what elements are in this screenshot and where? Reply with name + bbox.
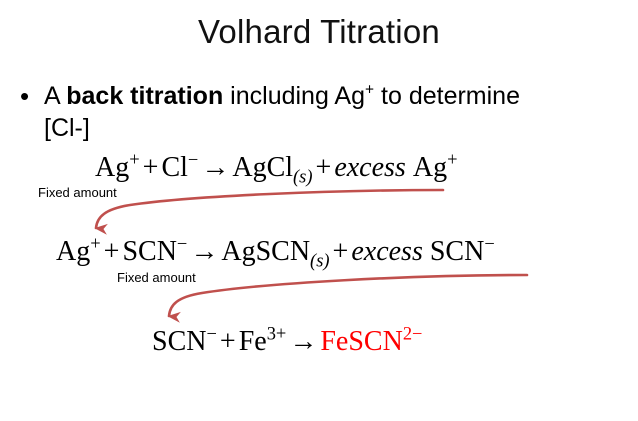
eq2-product-1: AgSCN xyxy=(221,236,310,267)
page-title: Volhard Titration xyxy=(0,14,638,50)
eq1-product-2-charge: + xyxy=(447,150,457,170)
flow-arrow-excess-silver-icon xyxy=(96,190,443,228)
eq3-reactant-2-charge: 3+ xyxy=(267,324,287,344)
equation-2: Ag++SCN−→AgSCN(s)+excess SCN− xyxy=(56,236,495,268)
eq3-reactant-2: Fe xyxy=(239,326,267,357)
eq1-reactant-2-charge: − xyxy=(188,150,198,170)
bullet-prefix: A xyxy=(44,82,66,110)
bullet-marker-icon: • xyxy=(20,80,44,112)
eq3-plus-1: + xyxy=(217,326,239,357)
eq3-reactant-1-charge: − xyxy=(206,324,216,344)
eq2-reactant-1: Ag xyxy=(56,236,90,267)
eq1-plus-1: + xyxy=(140,152,162,183)
bullet-block: • A back titration including Ag+ to dete… xyxy=(20,80,620,112)
eq2-product-2: SCN xyxy=(430,236,484,267)
eq1-product-1-state: (s) xyxy=(293,167,313,187)
fixed-amount-label-2: Fixed amount xyxy=(117,271,196,284)
bullet-suffix: to determine xyxy=(374,82,520,110)
eq2-excess-label: excess xyxy=(351,236,423,267)
eq1-product-2: Ag xyxy=(413,152,447,183)
eq2-reactant-1-charge: + xyxy=(90,234,100,254)
eq1-reactant-2: Cl xyxy=(161,152,187,183)
eq2-plus-1: + xyxy=(101,236,123,267)
eq1-plus-2: + xyxy=(313,152,335,183)
eq1-product-1: AgCl xyxy=(232,152,293,183)
bullet-text-line1: A back titration including Ag+ to determ… xyxy=(44,80,520,112)
eq2-product-2-charge: − xyxy=(484,234,494,254)
eq2-plus-2: + xyxy=(330,236,352,267)
equation-1: Ag++Cl−→AgCl(s)+excess Ag+ xyxy=(95,152,458,184)
eq1-reactant-1: Ag xyxy=(95,152,129,183)
bullet-superscript-charge: + xyxy=(365,82,374,99)
eq3-product-charge: 2− xyxy=(403,324,423,344)
eq2-product-1-state: (s) xyxy=(310,251,330,271)
eq3-reactant-1: SCN xyxy=(152,326,206,357)
bullet-middle: including Ag xyxy=(223,82,365,110)
eq1-excess-label: excess xyxy=(334,152,406,183)
flow-arrow-excess-thiocyanate-icon xyxy=(169,275,527,316)
eq1-reaction-arrow-icon: → xyxy=(198,152,232,183)
bullet-bold-term: back titration xyxy=(66,82,223,110)
eq2-reaction-arrow-icon: → xyxy=(187,236,221,267)
eq1-reactant-1-charge: + xyxy=(129,150,139,170)
list-item: • A back titration including Ag+ to dete… xyxy=(20,80,620,112)
equation-3: SCN−+Fe3+→FeSCN2− xyxy=(152,326,422,358)
eq3-reaction-arrow-icon: → xyxy=(286,326,320,357)
eq2-reactant-2: SCN xyxy=(122,236,176,267)
bullet-text-line2: [Cl-] xyxy=(44,113,90,143)
eq2-reactant-2-charge: − xyxy=(177,234,187,254)
fixed-amount-label-1: Fixed amount xyxy=(38,186,117,199)
eq3-product-complex: FeSCN xyxy=(320,326,402,357)
slide-canvas: Volhard Titration • A back titration inc… xyxy=(0,0,638,421)
